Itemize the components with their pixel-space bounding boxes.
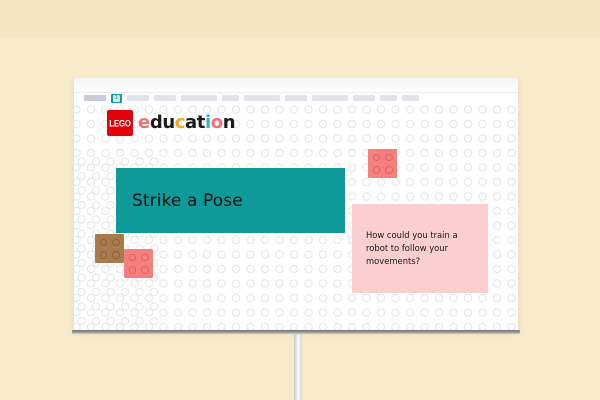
- nav-pill[interactable]: [244, 95, 280, 101]
- brick-stud: [112, 251, 120, 259]
- brick-stud: [385, 166, 393, 174]
- letter-d: d: [150, 112, 163, 133]
- nav-step-number: 1: [113, 95, 120, 102]
- letter-a: a: [185, 112, 197, 133]
- lego-brand-mark: LEGO: [107, 110, 133, 136]
- letter-o: o: [211, 112, 223, 133]
- progress-nav-strip[interactable]: 1: [74, 92, 518, 104]
- brick-stud: [100, 251, 108, 259]
- background-band-top: [0, 0, 600, 37]
- lego-brick-top-right: [368, 149, 397, 178]
- lego-brick-lower-brown: [95, 234, 124, 263]
- question-card: How could you train a robot to follow yo…: [352, 204, 488, 293]
- letter-u: u: [162, 112, 174, 133]
- nav-pill[interactable]: [353, 95, 375, 101]
- lego-brick-lower-salmon: [124, 249, 153, 278]
- nav-current-step[interactable]: 1: [111, 94, 122, 103]
- easel-tray: [72, 330, 520, 334]
- brick-stud: [373, 166, 381, 174]
- letter-t: t: [197, 112, 205, 133]
- nav-pill[interactable]: [181, 95, 217, 101]
- question-text: How could you train a robot to follow yo…: [352, 229, 488, 268]
- lego-education-logo: LEGO education: [107, 110, 235, 136]
- nav-pill[interactable]: [222, 95, 239, 101]
- brick-stud: [141, 254, 149, 262]
- top-chrome-bar: [74, 78, 518, 93]
- education-wordmark: education: [138, 114, 235, 132]
- nav-pill[interactable]: [402, 95, 419, 101]
- brick-stud: [373, 154, 381, 162]
- nav-pill[interactable]: [380, 95, 397, 101]
- brick-stud: [129, 254, 137, 262]
- letter-c: c: [175, 112, 185, 133]
- letter-n: n: [223, 112, 235, 133]
- nav-pill[interactable]: [127, 95, 149, 101]
- nav-pill[interactable]: [154, 95, 176, 101]
- lego-mark-text: LEGO: [109, 118, 130, 128]
- slide-title-banner: Strike a Pose: [116, 168, 345, 233]
- brick-stud: [112, 239, 120, 247]
- brick-stud: [129, 266, 137, 274]
- letter-e: e: [138, 112, 150, 133]
- brick-stud: [100, 239, 108, 247]
- nav-pill[interactable]: [285, 95, 307, 101]
- page-title: Strike a Pose: [116, 191, 243, 211]
- scene-root: 1 LEGO education: [0, 0, 600, 400]
- brick-stud: [385, 154, 393, 162]
- easel-stand-pole: [294, 330, 302, 400]
- nav-pill[interactable]: [84, 95, 106, 101]
- nav-pill[interactable]: [312, 95, 348, 101]
- brick-stud: [141, 266, 149, 274]
- whiteboard-surface: 1 LEGO education: [74, 78, 518, 332]
